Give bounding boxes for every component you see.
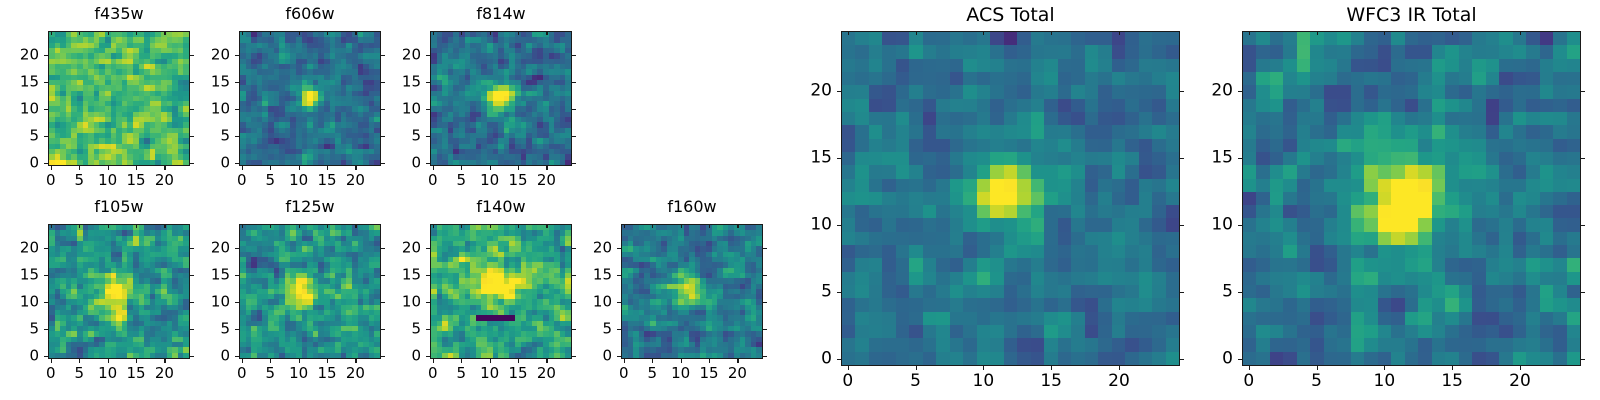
x-tick-mark — [1249, 366, 1250, 370]
x-tick-label: 5 — [1311, 373, 1322, 390]
heatmap-wfc3-ir-total — [1243, 32, 1580, 365]
y-tick-label: 0 — [1205, 351, 1233, 368]
x-tick-mark-top — [1520, 31, 1521, 35]
panel-wfc3-ir-total: WFC3 IR Total0510152005101520 — [0, 0, 1600, 400]
y-tick-mark — [1238, 359, 1242, 360]
y-tick-mark-right — [1581, 359, 1585, 360]
y-tick-label: 15 — [1205, 150, 1233, 167]
y-tick-label: 20 — [1205, 83, 1233, 100]
x-tick-mark — [1452, 366, 1453, 370]
y-tick-mark — [1238, 225, 1242, 226]
x-tick-label: 10 — [1374, 373, 1396, 390]
y-tick-mark — [1238, 292, 1242, 293]
x-tick-mark — [1384, 366, 1385, 370]
y-tick-mark-right — [1581, 225, 1585, 226]
x-tick-label: 20 — [1509, 373, 1531, 390]
y-tick-mark-right — [1581, 292, 1585, 293]
x-tick-mark-top — [1384, 31, 1385, 35]
x-tick-mark-top — [1452, 31, 1453, 35]
y-tick-label: 10 — [1205, 217, 1233, 234]
x-tick-label: 0 — [1243, 373, 1254, 390]
y-tick-mark-right — [1581, 158, 1585, 159]
axes-wfc3-ir-total — [1242, 31, 1581, 366]
x-tick-mark-top — [1249, 31, 1250, 35]
x-tick-label: 15 — [1441, 373, 1463, 390]
x-tick-mark — [1317, 366, 1318, 370]
y-tick-label: 5 — [1205, 284, 1233, 301]
figure-canvas: f435w0510152005101520f606w05101520051015… — [0, 0, 1600, 400]
x-tick-mark-top — [1317, 31, 1318, 35]
y-tick-mark-right — [1581, 91, 1585, 92]
y-tick-mark — [1238, 91, 1242, 92]
panel-title-wfc3-ir-total: WFC3 IR Total — [1242, 6, 1581, 25]
y-tick-mark — [1238, 158, 1242, 159]
x-tick-mark — [1520, 366, 1521, 370]
